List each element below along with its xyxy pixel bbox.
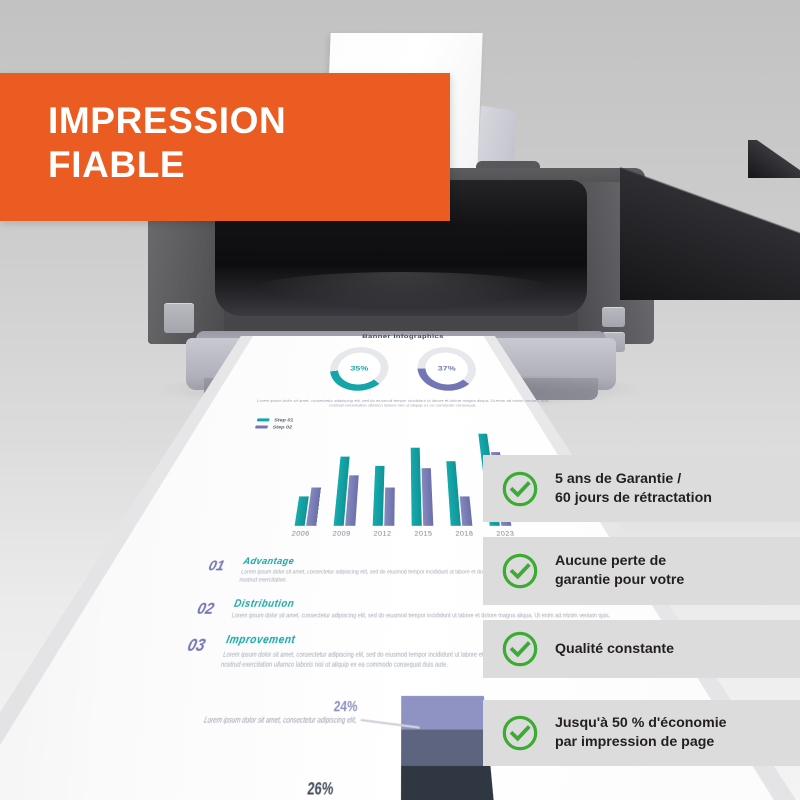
feature-2-line-1: Aucune perte de [555,553,666,569]
x-axis-tick-label: 2009 [329,530,353,539]
infographic-title: Banner Infographics [249,333,556,340]
bar-group [373,466,395,526]
pencil-segment-2 [401,729,490,765]
pencil-segment-3 [401,765,494,800]
x-axis-tick-label: 2018 [452,530,476,539]
bar-group [295,487,321,526]
pencil-segment-1 [401,696,487,730]
feature-box-2[interactable]: Aucune perte de garantie pour votre [483,537,800,605]
donut-chart-row: 35% 37% [234,347,572,391]
bar-group [334,457,360,526]
bar [446,461,461,525]
feature-1-line-1: 5 ans de Garantie / [555,471,681,487]
list-item-number: 02 [194,599,225,621]
legend-swatch-icon [255,425,268,428]
donut-chart-1-value: 35% [327,347,389,391]
funnel-label-1: 24% Lorem ipsum dolor sit amet, consecte… [185,700,358,727]
printer-button-right-top[interactable] [602,307,625,327]
list-item-number: 01 [204,558,236,586]
funnel-text-1: Lorem ipsum dolor sit amet, consectetur … [185,715,357,727]
feature-1-line-2: 60 jours de rétractation [555,490,712,506]
headline-banner-text: IMPRESSION FIABLE [0,73,450,186]
donut-chart-2: 37% [417,347,479,391]
printer-corner-shade [748,140,800,178]
feature-box-4-label: Jusqu'à 50 % d'économie par impression d… [555,714,727,751]
bar [373,466,385,526]
headline-line-1: IMPRESSION [48,99,450,143]
bar [422,468,434,525]
printer-button-left[interactable] [164,303,194,333]
feature-4-line-2: par impression de page [555,734,714,750]
list-item-number: 03 [181,636,217,671]
x-axis-tick-label: 2006 [288,530,313,539]
chart-legend: Step 01 Step 02 [255,417,584,429]
funnel-percent-2: 26% [147,781,333,800]
legend-item-step-01: Step 01 [257,417,582,422]
bar [411,448,422,525]
feature-4-line-1: Jusqu'à 50 % d'économie [555,715,727,731]
feature-box-3[interactable]: Qualité constante [483,620,800,678]
bar-group [411,448,434,525]
funnel-label-2: 26% Lorem ipsum dolor sit amet, consecte… [144,781,334,800]
donut-chart-1: 35% [327,347,389,391]
poster-canvas: Banner Infographics 35% 37% Lorem ipsum … [0,0,800,800]
legend-item-step-02: Step 02 [255,424,584,429]
funnel-percent-1: 24% [188,700,358,716]
bar [460,497,473,526]
feature-box-4[interactable]: Jusqu'à 50 % d'économie par impression d… [483,700,800,766]
infographic-intro-text: Lorem ipsum dolor sit amet, consectetur … [248,399,559,409]
feature-2-line-2: garantie pour votre [555,572,684,588]
legend-swatch-icon [257,418,270,421]
check-circle-icon [501,552,539,590]
legend-label-step-01: Step 01 [274,417,294,422]
check-circle-icon [501,714,539,752]
check-circle-icon [501,630,539,668]
x-axis-tick-label: 2015 [412,530,436,539]
x-axis-tick-label: 2012 [371,530,395,539]
headline-line-2: FIABLE [48,143,450,187]
headline-banner: IMPRESSION FIABLE [0,73,450,221]
donut-chart-2-value: 37% [417,347,479,391]
feature-box-2-label: Aucune perte de garantie pour votre [555,552,684,589]
bar [306,487,321,526]
feature-box-3-label: Qualité constante [555,640,674,659]
legend-label-step-02: Step 02 [272,424,292,429]
bar [384,487,395,526]
printer-drum-highlight [252,272,552,306]
check-circle-icon [501,470,539,508]
bar-group [446,461,472,525]
feature-box-1-label: 5 ans de Garantie / 60 jours de rétracta… [555,470,712,507]
feature-box-1[interactable]: 5 ans de Garantie / 60 jours de rétracta… [483,455,800,522]
